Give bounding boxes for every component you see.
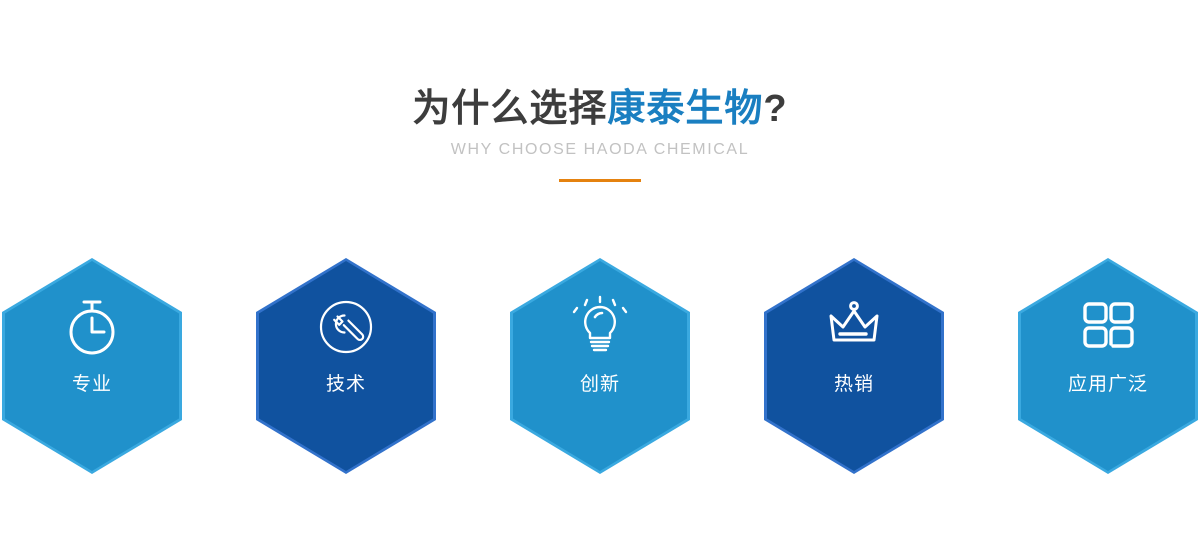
title-divider [559,179,641,182]
feature-label: 热销 [834,374,874,396]
feature-card-content: 创新 [510,258,690,474]
page-subtitle: WHY CHOOSE HAODA CHEMICAL [0,141,1200,159]
feature-card-1[interactable]: 专业 [2,258,182,474]
feature-card-5[interactable]: 应用广泛 [1018,258,1198,474]
feature-label: 创新 [580,374,620,396]
grid-squares-icon [1075,294,1141,360]
stopwatch-icon [59,294,125,360]
feature-label: 专业 [72,374,112,396]
feature-card-content: 热销 [764,258,944,474]
feature-card-4[interactable]: 热销 [764,258,944,474]
crown-icon [821,294,887,360]
feature-card-content: 应用广泛 [1018,258,1198,474]
lightbulb-icon [567,294,633,360]
feature-card-2[interactable]: 技术 [256,258,436,474]
wrench-circle-icon [313,294,379,360]
page-title: 为什么选择康泰生物? [0,86,1200,132]
feature-label: 技术 [326,374,366,396]
feature-card-3[interactable]: 创新 [510,258,690,474]
feature-card-content: 技术 [256,258,436,474]
page-title-prefix: 为什么选择 [412,88,607,130]
page-title-brand: 康泰生物 [607,88,763,130]
section-header: 为什么选择康泰生物? WHY CHOOSE HAODA CHEMICAL [0,0,1200,182]
feature-label: 应用广泛 [1068,374,1148,396]
feature-hexagon-row: 专业 技术 [0,258,1200,474]
feature-card-content: 专业 [2,258,182,474]
page-title-mark: ? [763,88,787,130]
